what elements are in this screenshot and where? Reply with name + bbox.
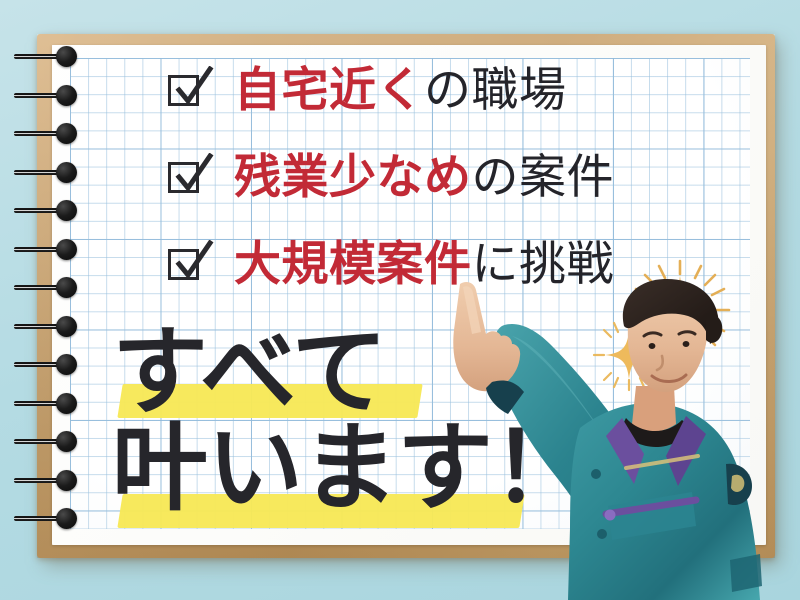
- checklist-item-rest: の職場: [424, 63, 567, 118]
- spiral-ring-knob: [56, 162, 77, 183]
- spiral-binding: [0, 0, 120, 600]
- checklist-item-rest: の案件: [472, 150, 615, 205]
- spiral-ring-knob: [56, 46, 77, 67]
- spiral-ring-knob: [56, 508, 77, 529]
- checkbox-checked-icon[interactable]: [168, 72, 204, 108]
- spiral-ring-knob: [56, 85, 77, 106]
- checklist-item[interactable]: 自宅近くの職場: [168, 58, 688, 145]
- checklist-item-highlight: 残業少なめ: [234, 150, 472, 205]
- checklist-item-text: 残業少なめの案件: [234, 145, 614, 211]
- spiral-ring-knob: [56, 431, 77, 452]
- checklist-item-highlight: 自宅近く: [234, 63, 424, 118]
- spiral-ring-knob: [56, 123, 77, 144]
- spiral-ring-knob: [56, 316, 77, 337]
- person-pointing-illustration: [430, 278, 800, 600]
- spiral-ring-knob: [56, 393, 77, 414]
- checklist-item[interactable]: 残業少なめの案件: [168, 145, 688, 232]
- checklist-item-text: 自宅近くの職場: [234, 58, 567, 124]
- spiral-ring-knob: [56, 277, 77, 298]
- spiral-ring-knob: [56, 354, 77, 375]
- spiral-ring-knob: [56, 239, 77, 260]
- checkbox-checked-icon[interactable]: [168, 246, 204, 282]
- poster-canvas: 自宅近くの職場 残業少なめの案件 大規模案件に挑戦 すべて: [0, 0, 800, 600]
- checkbox-checked-icon[interactable]: [168, 159, 204, 195]
- spiral-ring-knob: [56, 200, 77, 221]
- spiral-ring-knob: [56, 470, 77, 491]
